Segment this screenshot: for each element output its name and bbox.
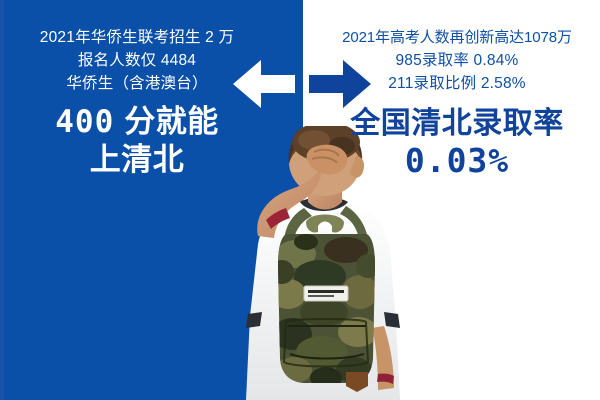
right-line-2: 985录取率 0.84%	[314, 49, 600, 72]
left-headline-suffix: 分就能	[124, 104, 219, 139]
right-headline-line-2: 0.03%	[314, 142, 600, 180]
left-headline-line-1: 400分就能	[6, 103, 268, 141]
left-line-3: 华侨生（含港澳台）	[6, 72, 268, 95]
left-line-2: 报名人数仅 4484	[6, 49, 268, 72]
left-headline-number: 400	[55, 104, 114, 140]
right-line-3: 211录取比例 2.58%	[314, 72, 600, 95]
left-line-1: 2021年华侨生联考招生 2 万	[6, 26, 268, 49]
right-headline-number: 0.03%	[405, 141, 509, 180]
left-text-block: 2021年华侨生联考招生 2 万 报名人数仅 4484 华侨生（含港澳台） 40…	[6, 26, 268, 178]
right-headline-line-1: 全国清北录取率	[314, 105, 600, 142]
right-text-block: 2021年高考人数再创新高达1078万 985录取率 0.84% 211录取比例…	[314, 26, 600, 180]
infographic-poster: 2021年华侨生联考招生 2 万 报名人数仅 4484 华侨生（含港澳台） 40…	[0, 0, 600, 400]
right-line-1: 2021年高考人数再创新高达1078万	[314, 26, 600, 49]
left-headline-line-2: 上清北	[6, 141, 268, 178]
left-panel-edge-strip	[0, 0, 4, 400]
